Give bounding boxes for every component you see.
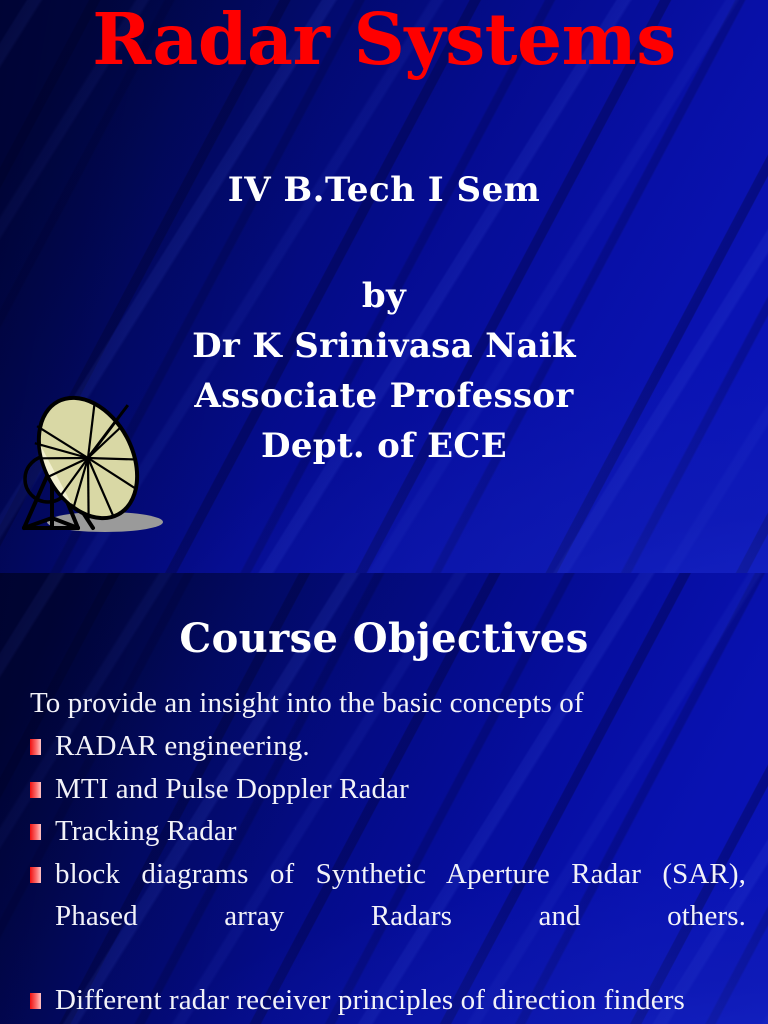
objectives-list: To provide an insight into the basic con…	[30, 683, 746, 1022]
list-item: Different radar receiver principles of d…	[30, 980, 746, 1022]
satellite-dish-icon	[8, 386, 188, 546]
section-heading: Course Objectives	[0, 615, 768, 662]
list-item: block diagrams of Synthetic Aperture Rad…	[30, 854, 746, 979]
list-item: RADAR engineering.	[30, 726, 746, 768]
course-subtitle: IV B.Tech I Sem	[0, 170, 768, 210]
bullet-square-icon	[30, 782, 41, 798]
list-item-label: block diagrams of Synthetic Aperture Rad…	[55, 854, 746, 979]
bullet-square-icon	[30, 993, 41, 1009]
page-title: Radar Systems	[0, 4, 768, 75]
list-item-label: Different radar receiver principles of d…	[55, 980, 746, 1022]
list-item-label: Tracking Radar	[55, 811, 746, 853]
bullet-square-icon	[30, 867, 41, 883]
list-item-label: MTI and Pulse Doppler Radar	[55, 769, 746, 811]
slide-title: Radar Systems IV B.Tech I Sem by Dr K Sr…	[0, 0, 768, 573]
author-line-by: by	[0, 272, 768, 322]
list-item-label: RADAR engineering.	[55, 726, 746, 768]
list-item: Tracking Radar	[30, 811, 746, 853]
author-line-name: Dr K Srinivasa Naik	[0, 322, 768, 372]
bullet-square-icon	[30, 739, 41, 755]
slide-course-objectives: Course Objectives To provide an insight …	[0, 573, 768, 1024]
objectives-lead-line: To provide an insight into the basic con…	[30, 683, 746, 725]
list-item: MTI and Pulse Doppler Radar	[30, 769, 746, 811]
presentation-page: Radar Systems IV B.Tech I Sem by Dr K Sr…	[0, 0, 768, 1024]
bullet-square-icon	[30, 824, 41, 840]
